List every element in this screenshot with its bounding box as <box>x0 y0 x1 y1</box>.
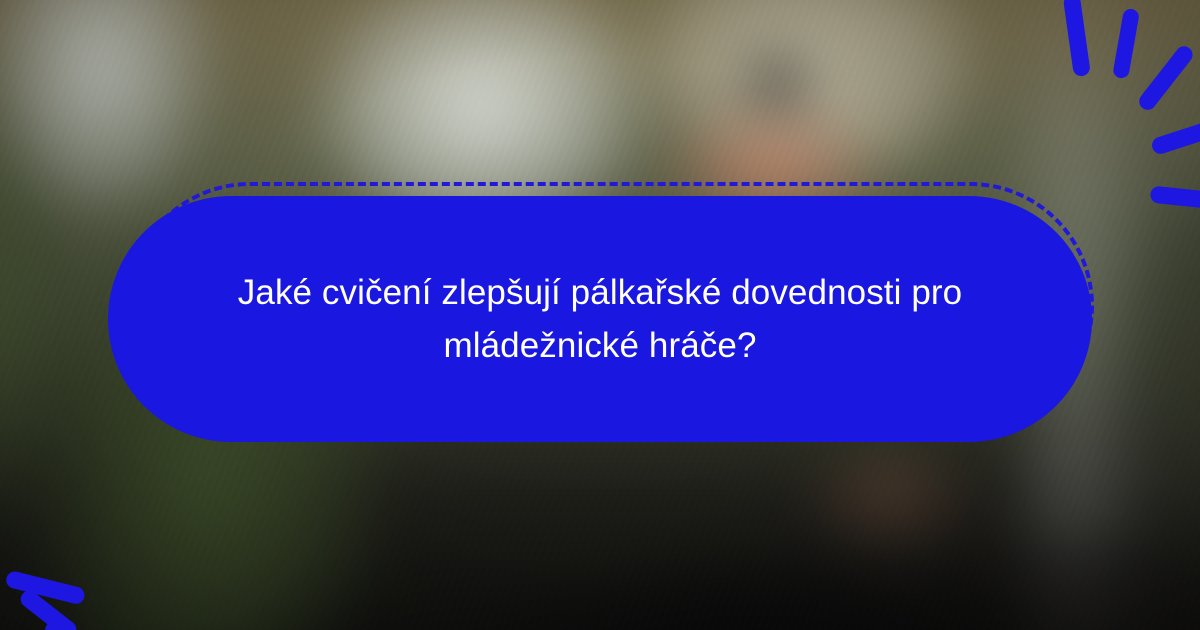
question-text: Jaké cvičení zlepšují pálkařské dovednos… <box>182 266 1018 372</box>
sparkle-stroke <box>1112 8 1140 80</box>
sparkle-bottom-left-icon <box>0 458 170 628</box>
share-card-canvas: Jaké cvičení zlepšují pálkařské dovednos… <box>0 0 1200 630</box>
question-card: Jaké cvičení zlepšují pálkařské dovednos… <box>108 196 1092 442</box>
sparkle-top-right-icon <box>1030 0 1200 154</box>
sparkle-stroke <box>1150 116 1200 156</box>
sparkle-stroke <box>1136 43 1196 113</box>
sparkle-stroke <box>1063 0 1091 77</box>
